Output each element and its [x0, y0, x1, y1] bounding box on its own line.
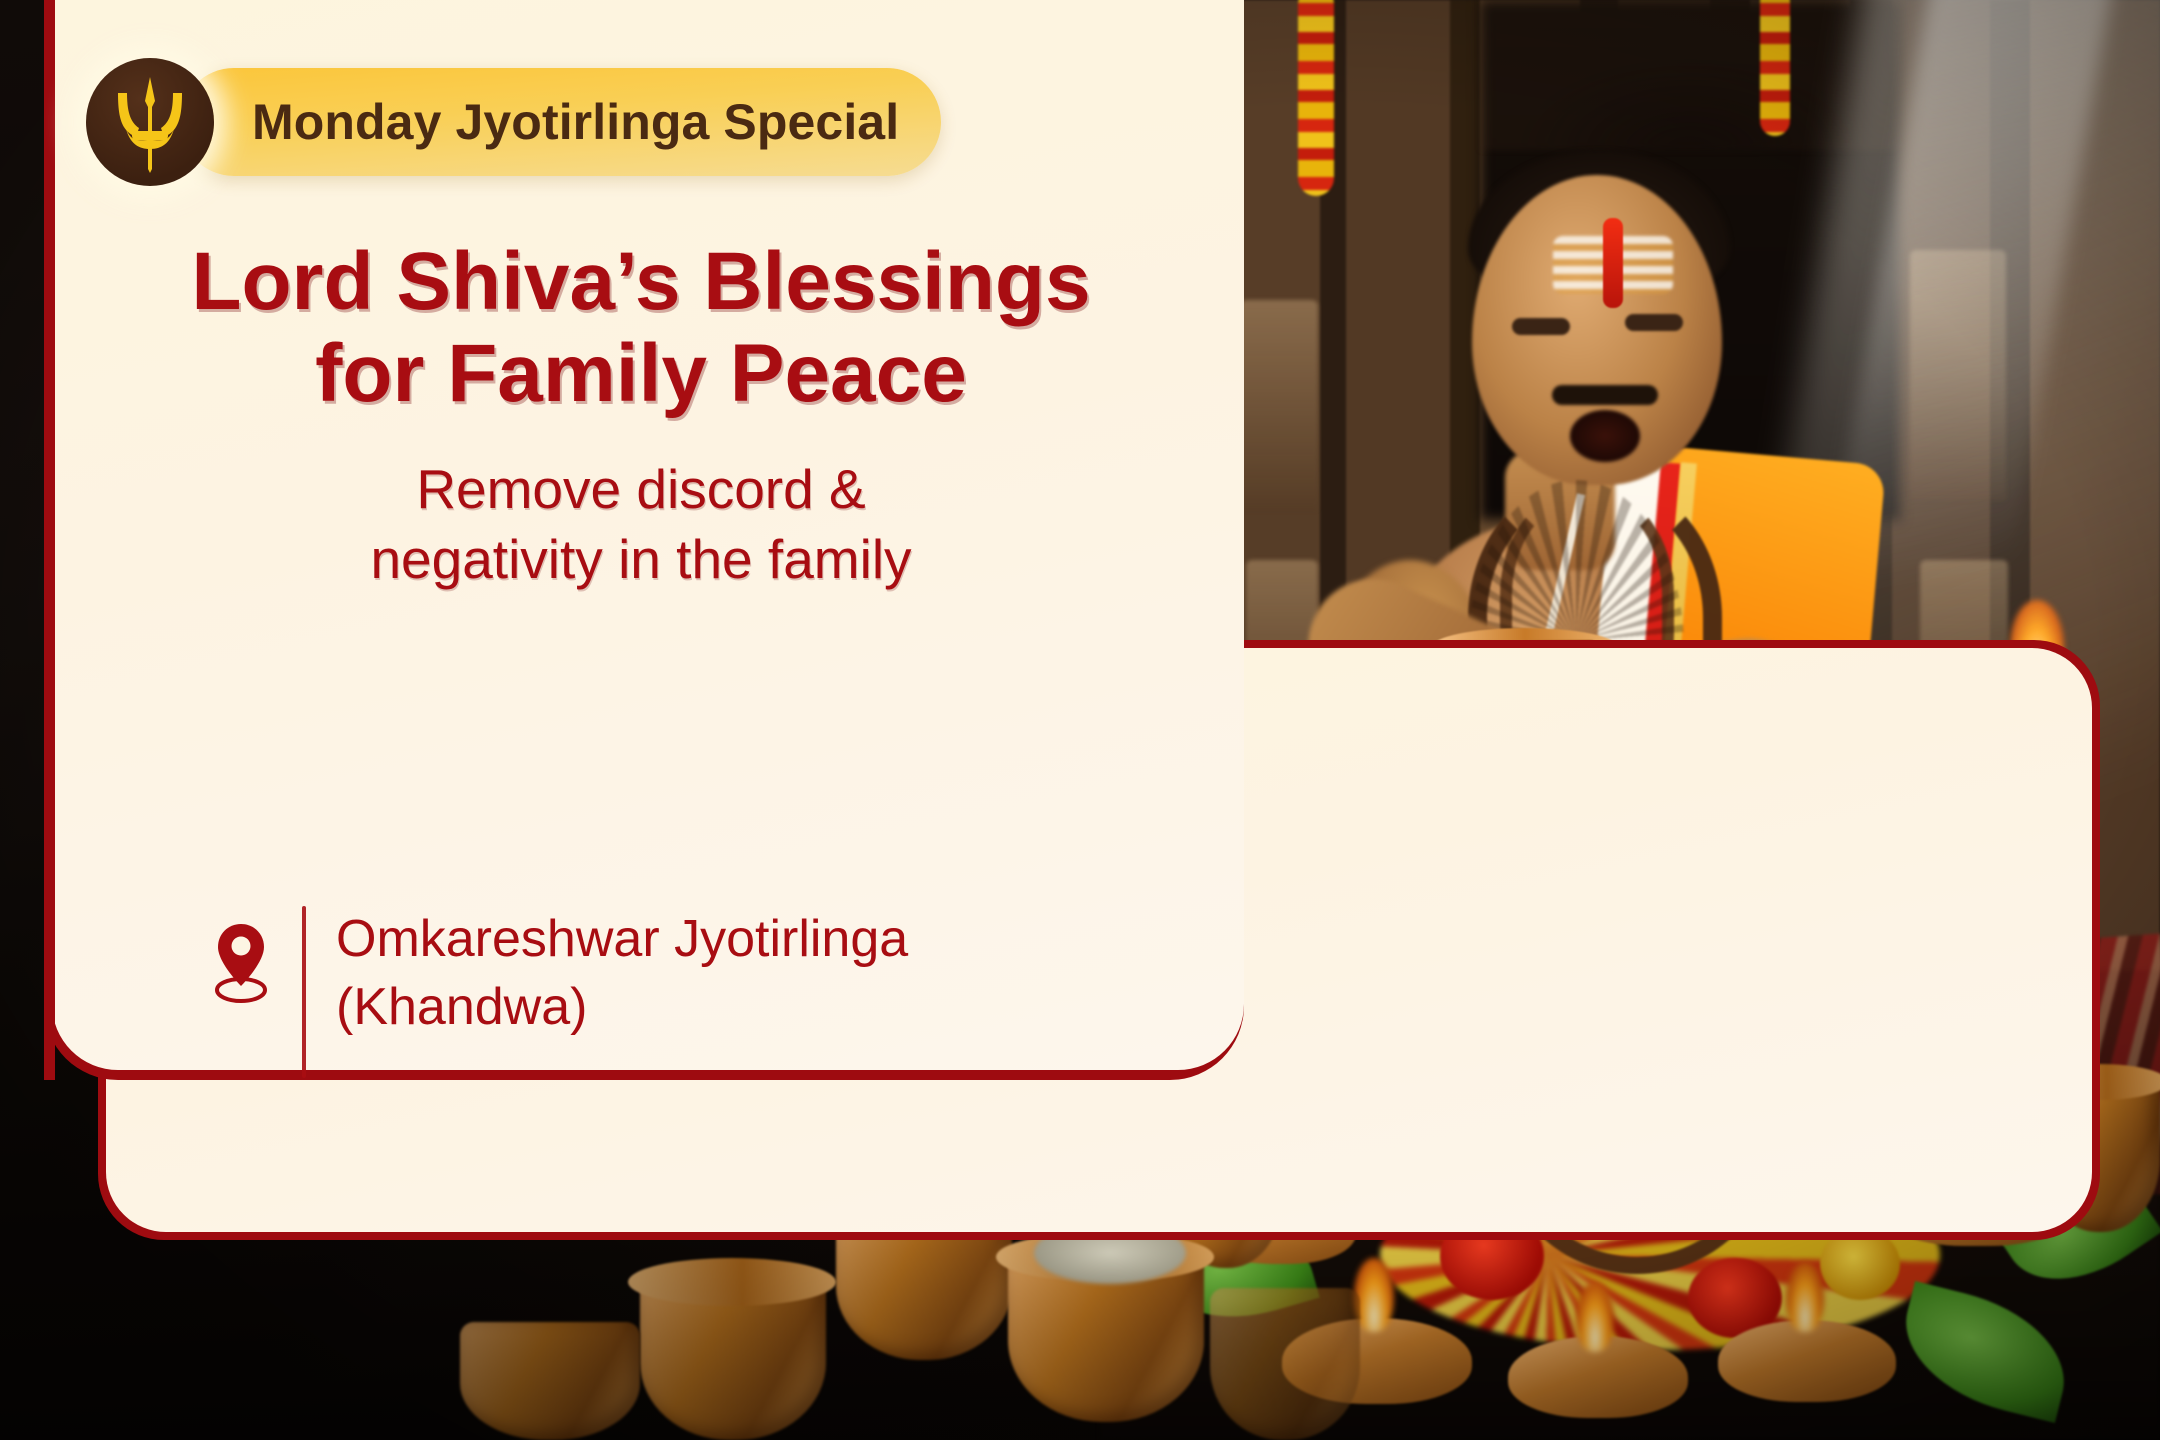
location-line-2: (Khandwa) [336, 978, 587, 1036]
map-pin-icon [210, 920, 272, 1011]
location-line-1: Omkareshwar Jyotirlinga [336, 910, 908, 968]
marigold-garland [1298, 0, 1334, 196]
offering-bowl-rim [628, 1258, 836, 1306]
brass-diya [1718, 1320, 1896, 1402]
subheading: Remove discord & negativity in the famil… [86, 454, 1196, 595]
priest-mouth-chanting [1570, 410, 1640, 462]
priest-left-eye [1512, 318, 1570, 335]
offering-bowl [1210, 1288, 1360, 1440]
badge[interactable]: Monday Jyotirlinga Special [86, 58, 941, 186]
location-row: Omkareshwar Jyotirlinga (Khandwa) [210, 906, 908, 1078]
offering-bowl [460, 1322, 640, 1440]
page-title: Lord Shiva’s Blessings for Family Peace [86, 236, 1196, 420]
priest-right-eye [1625, 314, 1683, 331]
badge-label: Monday Jyotirlinga Special [252, 93, 899, 151]
location-divider [302, 906, 306, 1078]
trishul-icon [86, 58, 214, 186]
priest-red-tilak [1603, 218, 1623, 308]
subheading-line-2: negativity in the family [370, 528, 911, 590]
badge-pill[interactable]: Monday Jyotirlinga Special [180, 68, 941, 176]
carving-icon [1240, 300, 1318, 510]
headline-line-1: Lord Shiva’s Blessings [191, 236, 1090, 327]
headline-block: Lord Shiva’s Blessings for Family Peace … [86, 236, 1196, 594]
priest-moustache [1552, 385, 1658, 405]
banner-canvas: Monday Jyotirlinga Special Lord Shiva’s … [0, 0, 2160, 1440]
diya-flame-icon [1786, 1262, 1824, 1332]
temple-arch [1480, 0, 1900, 150]
subheading-line-1: Remove discord & [416, 458, 865, 520]
left-red-accent-bar [44, 0, 55, 1080]
diya-flame-icon [1576, 1282, 1614, 1352]
headline-line-2: for Family Peace [315, 328, 967, 419]
location-label: Omkareshwar Jyotirlinga (Khandwa) [336, 906, 908, 1041]
diya-flame-icon [1354, 1258, 1394, 1332]
marigold-garland [1760, 0, 1790, 136]
